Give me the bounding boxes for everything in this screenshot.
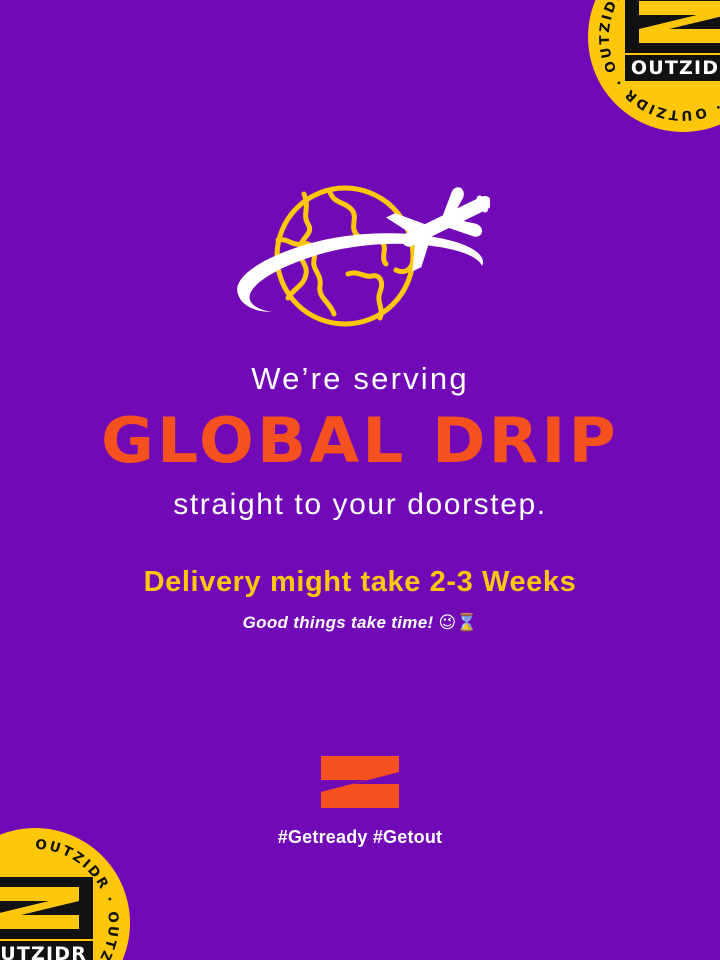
- badge-core-bottom-left: OUTZIDR: [0, 875, 95, 960]
- z-logo-mark: [319, 754, 401, 810]
- outzidr-badge-top-right: OUTZIDR · OUTZIDR · OUTZIDR · OUTZIDR · …: [588, 0, 720, 132]
- tagline-text: Good things take time!: [243, 613, 434, 632]
- globe-airplane-illustration: [230, 178, 490, 346]
- subline-text: straight to your doorstep.: [0, 488, 720, 521]
- wink-hourglass-emoji: 😉⌛: [438, 613, 477, 633]
- promo-poster: OUTZIDR · OUTZIDR · OUTZIDR · OUTZIDR · …: [0, 0, 720, 960]
- badge-core-wordmark: OUTZIDR: [0, 943, 87, 960]
- z-logo-glyph: [321, 756, 399, 808]
- delivery-notice: Delivery might take 2-3 Weeks: [0, 567, 720, 599]
- headline-text: GLOBAL DRIP: [0, 410, 720, 472]
- eyebrow-text: We’re serving: [0, 362, 720, 396]
- badge-core-top-right: OUTZIDR: [623, 0, 720, 85]
- outzidr-badge-bottom-left: OUTZIDR · OUTZIDR · OUTZIDR · OUTZIDR · …: [0, 828, 130, 960]
- badge-core-wordmark: OUTZIDR: [631, 57, 720, 79]
- tagline: Good things take time! 😉⌛: [0, 613, 720, 633]
- copy-block: We’re serving GLOBAL DRIP straight to yo…: [0, 362, 720, 633]
